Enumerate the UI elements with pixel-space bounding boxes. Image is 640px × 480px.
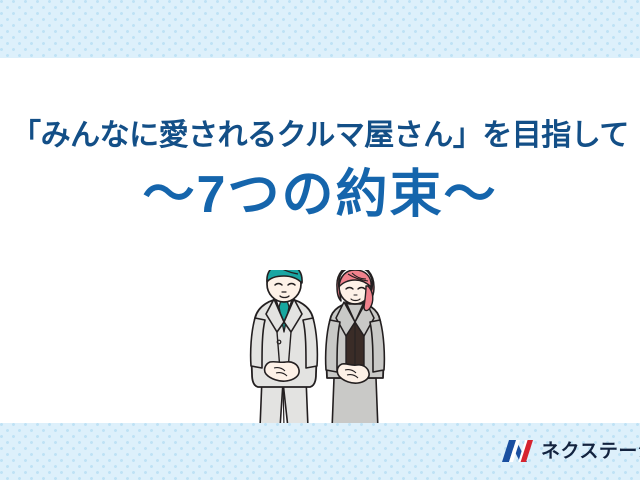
headline-secondary: 〜7つの約束〜 xyxy=(0,167,640,224)
male-staff-figure xyxy=(251,270,318,428)
female-staff-figure xyxy=(326,270,385,430)
headline-block: 「みんなに愛されるクルマ屋さん」を目指して 〜7つの約束〜 xyxy=(0,118,640,225)
nextage-n-logo-icon xyxy=(500,439,534,464)
slide-canvas: 「みんなに愛されるクルマ屋さん」を目指して 〜7つの約束〜 xyxy=(0,0,640,480)
brand-logo: ネクステージ xyxy=(500,439,640,464)
headline-primary: 「みんなに愛されるクルマ屋さん」を目指して xyxy=(0,118,640,153)
staff-illustration xyxy=(236,270,416,430)
brand-logo-text: ネクステージ xyxy=(541,442,640,461)
top-dot-pattern-band xyxy=(0,0,640,58)
